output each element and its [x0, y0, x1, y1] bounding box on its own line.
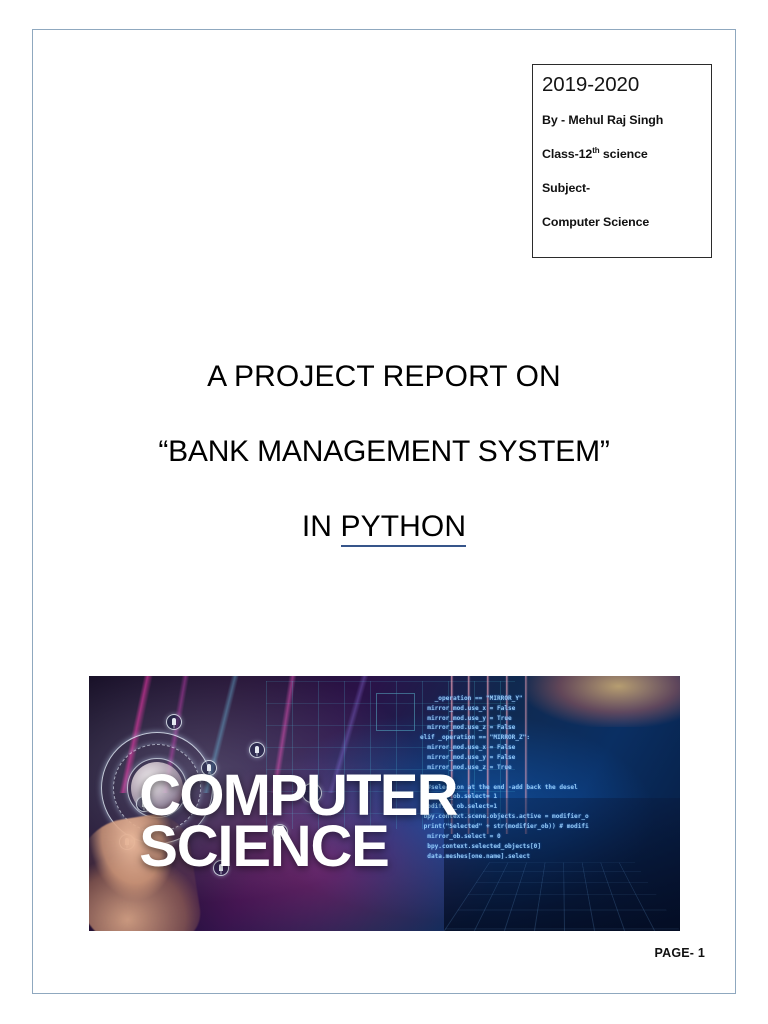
banner-headline: COMPUTER SCIENCE [139, 770, 680, 872]
report-title-block: A PROJECT REPORT ON “BANK MANAGEMENT SYS… [32, 362, 736, 542]
computer-science-banner-image: _operation == "MIRROR_Y" mirror_mod.use_… [89, 676, 680, 931]
info-text-box: 2019-2020 By - Mehul Raj Singh Class-12t… [532, 64, 712, 258]
class-line: Class-12th science [542, 147, 711, 161]
title-line-report-on: A PROJECT REPORT ON [32, 362, 736, 392]
academic-year: 2019-2020 [542, 74, 711, 97]
banner-headline-line-2: SCIENCE [139, 821, 680, 872]
title-line-language: IN PYTHON [32, 512, 736, 542]
network-person-icon [249, 742, 265, 758]
banner-circuit-trace-box [376, 693, 416, 731]
class-ordinal-superscript: th [592, 146, 599, 155]
network-person-icon [166, 714, 182, 730]
page-number-footer: PAGE- 1 [32, 946, 705, 960]
title-line-project-name: “BANK MANAGEMENT SYSTEM” [32, 437, 736, 467]
cover-page: 2019-2020 By - Mehul Raj Singh Class-12t… [0, 0, 768, 1024]
class-prefix: Class-12 [542, 147, 592, 161]
author-line: By - Mehul Raj Singh [542, 113, 711, 127]
python-hyperlink[interactable]: PYTHON [341, 510, 467, 547]
subject-label: Subject- [542, 181, 711, 195]
title-in-prefix: IN [302, 510, 341, 543]
subject-value: Computer Science [542, 215, 711, 229]
class-suffix: science [600, 147, 648, 161]
